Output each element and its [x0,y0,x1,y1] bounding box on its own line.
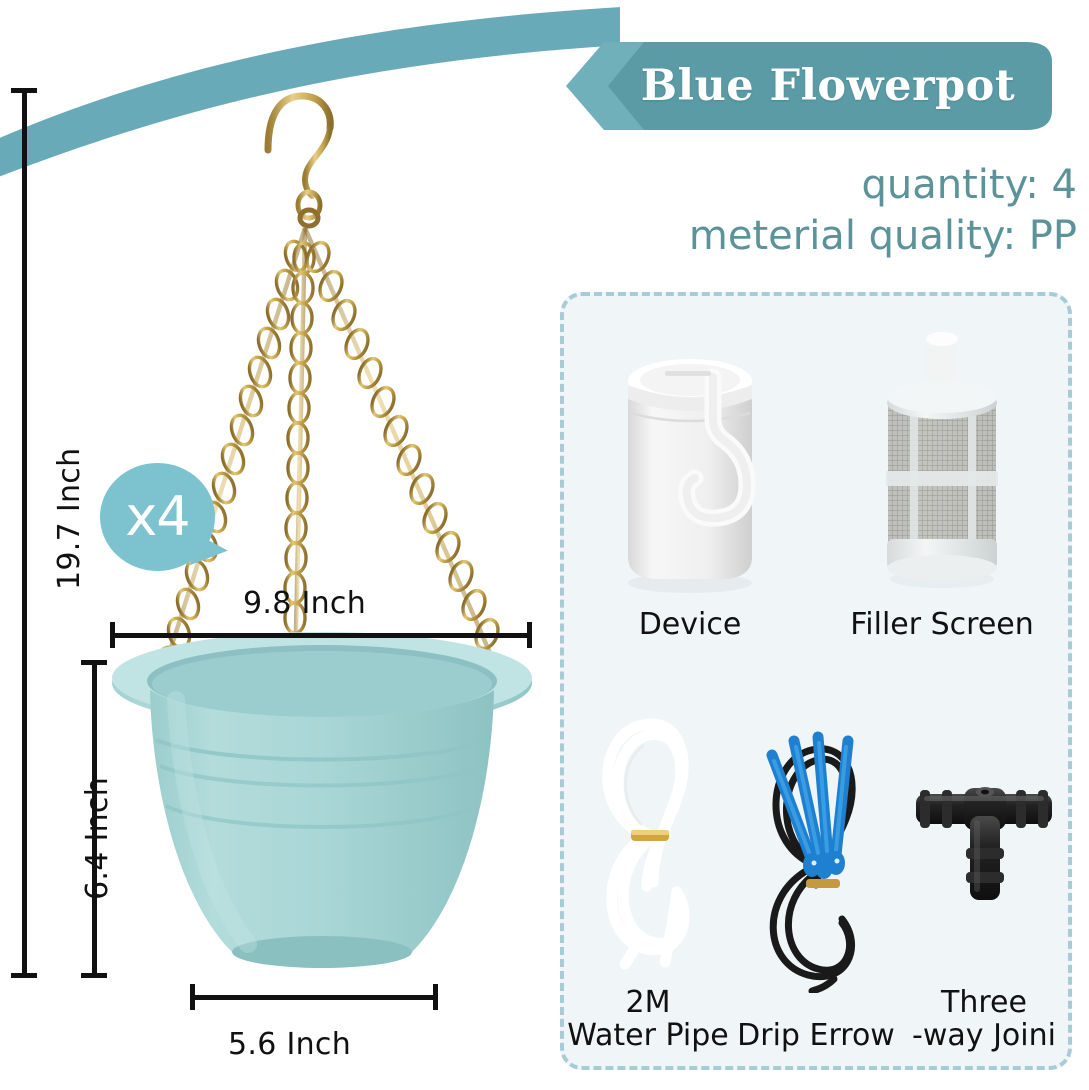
accessory-item-filler-screen: Filler Screen [816,322,1068,642]
dim-total-height-cap-top [11,88,37,93]
accessory-label-tee-joint-line2: -way Joini [912,1019,1056,1052]
dim-rim-width-cap-right [527,622,532,648]
accessory-label-filler-screen: Filler Screen [850,608,1034,642]
dim-rim-width-cap-left [110,622,115,648]
quantity-badge: x4 [100,463,215,571]
accessory-item-drip-arrow: Drip Errow [732,676,900,1052]
water-pipe-art [564,676,732,986]
accessories-panel: Device [560,292,1072,1070]
dim-pot-height-cap-bottom [81,973,107,978]
filler-screen-art [816,322,1068,602]
blue-drip-arrow-icon [736,703,896,993]
spec-list: quantity: 4 meterial quality: PP [557,160,1077,262]
accessory-item-tee-joint: Three -way Joini [900,676,1068,1052]
page-title: Blue Flowerpot [556,36,1056,136]
dim-base-width-line [190,995,438,1000]
quantity-badge-label: x4 [125,490,189,544]
accessory-label-tee-joint: Three -way Joini [912,986,1056,1052]
dim-base-width-label: 5.6 Inch [228,1027,351,1062]
flowerpot-body [112,632,532,968]
accessory-label-water-pipe-line1: 2M [567,986,728,1019]
water-device-icon [595,325,785,600]
accessory-label-water-pipe-line2: Water Pipe [567,1019,728,1052]
accessory-label-device: Device [639,608,742,642]
accessories-row-bottom: 2M Water Pipe [564,676,1068,1052]
product-illustration: 19.7 Inch 6.4 Inch 9.8 Inch 5.6 Inch x4 [0,0,560,1090]
infographic-canvas: 19.7 Inch 6.4 Inch 9.8 Inch 5.6 Inch x4 [0,0,1089,1090]
coiled-white-tube-icon [573,686,723,976]
accessories-row-top: Device [564,322,1068,642]
accessory-label-tee-joint-line1: Three [912,986,1056,1019]
accessory-item-water-pipe: 2M Water Pipe [564,676,732,1052]
dim-rim-width-line [110,633,532,638]
spec-material: meterial quality: PP [557,211,1077,262]
accessory-label-water-pipe: 2M Water Pipe [567,986,728,1052]
accessory-label-drip-arrow: Drip Errow [737,1019,895,1052]
dim-base-width-cap-right [433,984,438,1010]
device-art [564,322,816,602]
accessory-item-device: Device [564,322,816,642]
tee-joint-art [900,676,1068,986]
dim-rim-width-label: 9.8 Inch [243,586,366,621]
dim-pot-height-label: 6.4 Inch [80,777,115,900]
drip-arrow-art [732,676,900,1019]
dim-total-height-label: 19.7 Inch [52,448,87,590]
title-banner: Blue Flowerpot [556,36,1056,136]
accessory-label-drip-arrow-line1: Drip Errow [737,1019,895,1052]
mesh-filter-icon [852,325,1032,600]
dim-pot-height-cap-top [81,660,107,665]
dim-total-height-line [22,88,27,978]
dim-base-width-cap-left [190,984,195,1010]
dim-total-height-cap-bottom [11,973,37,978]
spec-quantity: quantity: 4 [557,160,1077,211]
tee-connector-icon [904,686,1064,976]
s-hook-icon [268,96,330,226]
info-column: Blue Flowerpot quantity: 4 meterial qual… [548,0,1089,1090]
